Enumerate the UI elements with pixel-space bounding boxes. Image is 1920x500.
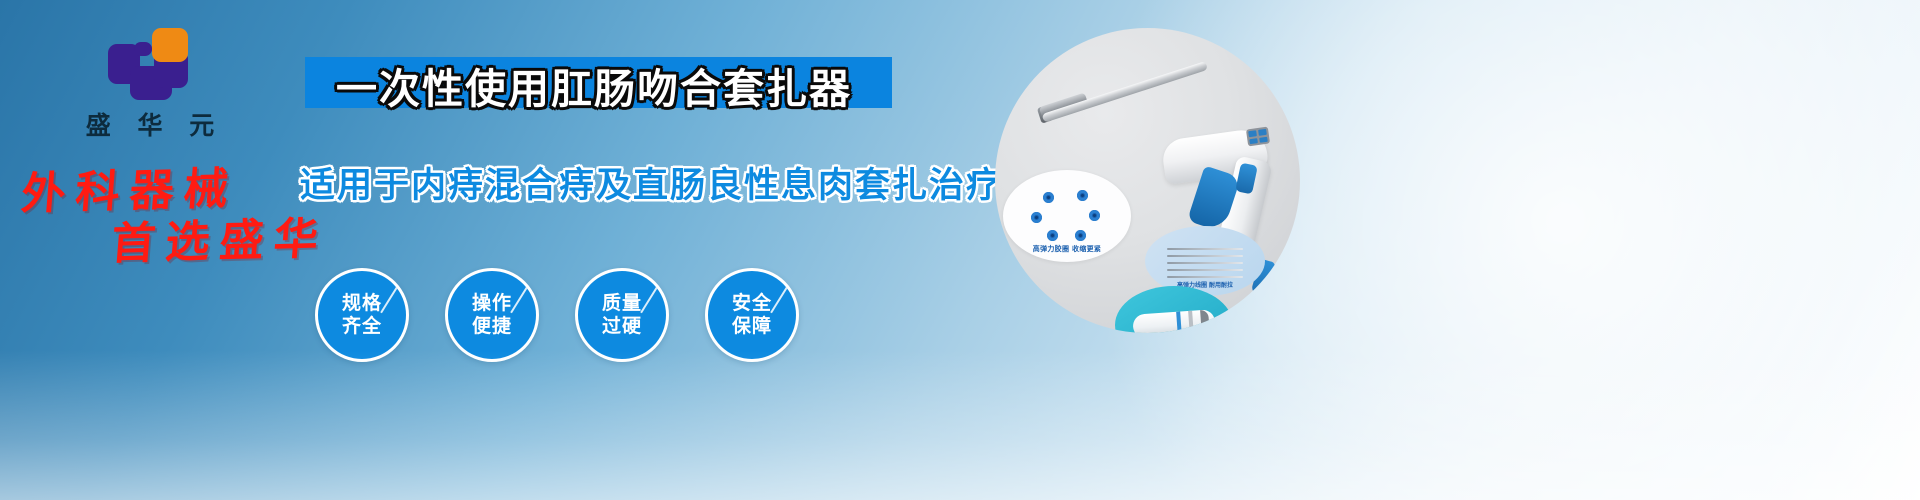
slash-decoration-icon — [640, 287, 658, 314]
logo-mark-icon — [108, 28, 192, 100]
subtitle: 适用于内痔混合痔及直肠良性息肉套扎治疗 — [300, 157, 1003, 208]
promo-banner: 盛 华 元 外科器械 首选盛华 一次性使用肛肠吻合套扎器 适用于内痔混合痔及直肠… — [0, 0, 1920, 500]
slash-decoration-icon — [510, 287, 528, 314]
slogan-line-2: 首选盛华 — [109, 202, 331, 272]
product-image: 高弹力胶圈 收缩更紧 高弹力线圈 耐用耐拉 — [995, 28, 1300, 333]
feature-badge[interactable]: 规格 齐全 — [315, 268, 409, 362]
feature-label-top: 质量 — [602, 292, 642, 315]
feature-badge[interactable]: 质量 过硬 — [575, 268, 669, 362]
feature-label-bottom: 便捷 — [472, 315, 512, 338]
bottom-fade — [0, 350, 1920, 500]
feature-badge[interactable]: 操作 便捷 — [445, 268, 539, 362]
page-title: 一次性使用肛肠吻合套扎器 — [336, 55, 852, 115]
feature-label-top: 操作 — [472, 292, 512, 315]
feature-label-top: 安全 — [732, 292, 772, 315]
feature-label-bottom: 保障 — [732, 315, 772, 338]
slash-decoration-icon — [770, 287, 788, 314]
feature-badge-list: 规格 齐全 操作 便捷 质量 过硬 安全 保障 — [315, 268, 799, 362]
device-keypad-icon — [1246, 127, 1270, 147]
slash-decoration-icon — [380, 287, 398, 314]
rings-callout: 高弹力胶圈 收缩更紧 — [1003, 170, 1131, 262]
capsule-device-icon — [1132, 309, 1215, 333]
needles-callout: 高弹力线圈 耐用耐拉 — [1145, 226, 1265, 296]
feature-label-top: 规格 — [342, 292, 382, 315]
feature-badge[interactable]: 安全 保障 — [705, 268, 799, 362]
feature-label-bottom: 齐全 — [342, 315, 382, 338]
brand-name: 盛 华 元 — [60, 106, 240, 142]
rings-callout-caption: 高弹力胶圈 收缩更紧 — [1003, 244, 1131, 254]
device-shaft — [1042, 61, 1208, 123]
brand-logo[interactable]: 盛 华 元 — [60, 28, 240, 142]
feature-label-bottom: 过硬 — [602, 315, 642, 338]
